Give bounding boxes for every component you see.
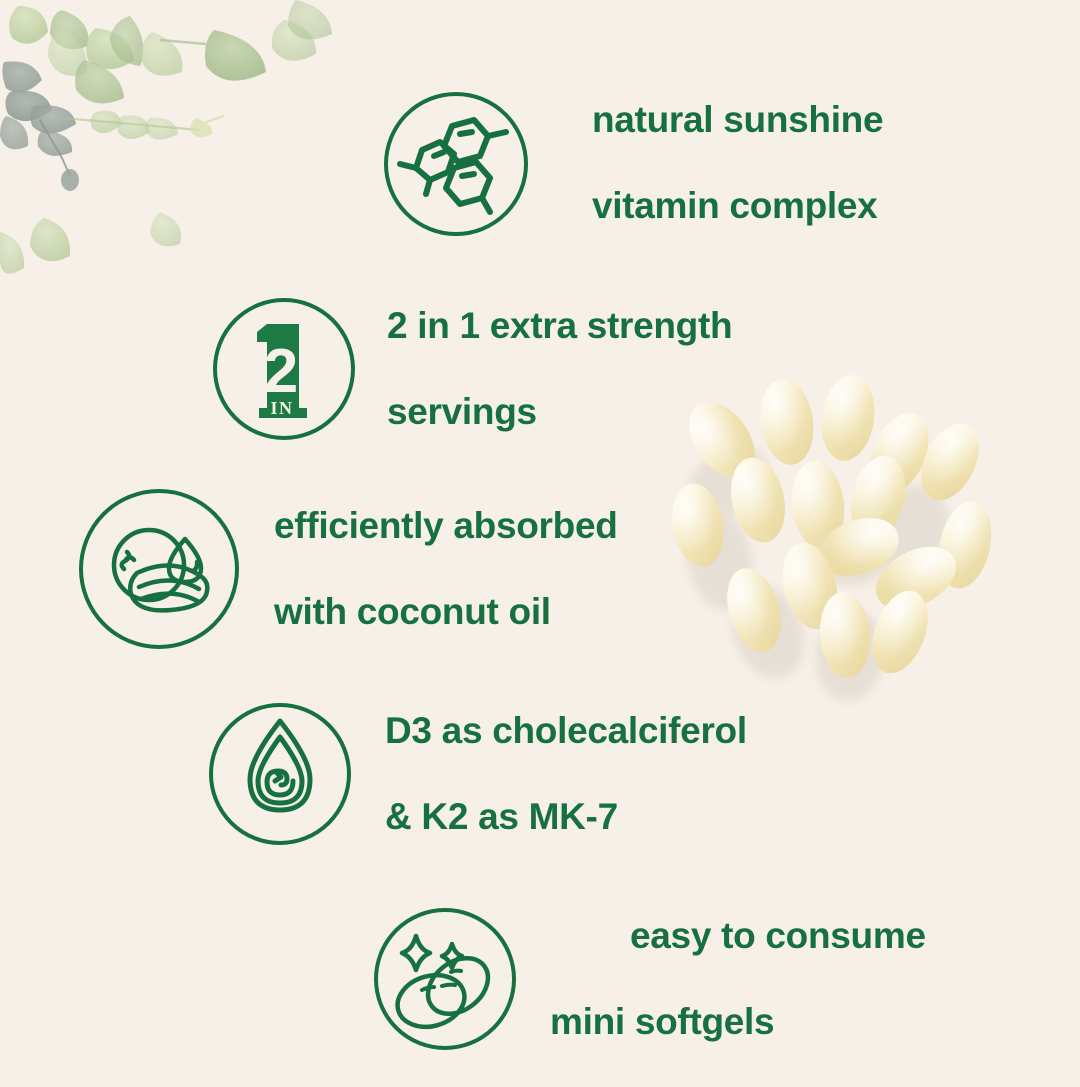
- two-in-one-badge-icon: 2 IN: [211, 296, 357, 442]
- softgel-sparkle-icon: [372, 906, 518, 1052]
- badge-sub-label: IN: [270, 398, 293, 418]
- feature-line: servings: [387, 391, 732, 434]
- feature-line: easy to consume: [630, 915, 926, 958]
- infographic-canvas: natural sunshine vitamin complex 2 IN 2 …: [0, 0, 1080, 1080]
- feature-text-natural-sunshine: natural sunshine vitamin complex: [592, 56, 883, 271]
- feature-row-d3-k2: D3 as cholecalciferol & K2 as MK-7: [207, 667, 747, 882]
- feature-line: mini softgels: [550, 1001, 926, 1044]
- feature-row-natural-sunshine: natural sunshine vitamin complex: [382, 58, 883, 271]
- feature-row-mini-softgels: easy to consume mini softgels: [372, 872, 926, 1087]
- feature-text-d3-k2: D3 as cholecalciferol & K2 as MK-7: [385, 667, 747, 882]
- feature-text-mini-softgels: easy to consume mini softgels: [550, 872, 926, 1087]
- leaf-cluster-top-left: [0, 0, 332, 274]
- feature-line: & K2 as MK-7: [385, 796, 747, 839]
- feature-line: vitamin complex: [592, 185, 883, 228]
- feature-text-coconut-oil: efficiently absorbed with coconut oil: [274, 462, 618, 677]
- feature-line: efficiently absorbed: [274, 505, 618, 548]
- feature-line: with coconut oil: [274, 591, 618, 634]
- feature-line: D3 as cholecalciferol: [385, 710, 747, 753]
- badge-number: 2: [264, 337, 298, 406]
- feature-line: natural sunshine: [592, 99, 883, 142]
- feature-row-two-in-one: 2 IN 2 in 1 extra strength servings: [211, 262, 732, 477]
- feature-text-two-in-one: 2 in 1 extra strength servings: [387, 262, 732, 477]
- molecule-icon: [382, 90, 530, 238]
- feature-line: 2 in 1 extra strength: [387, 305, 732, 348]
- feature-row-coconut-oil: efficiently absorbed with coconut oil: [77, 462, 618, 677]
- coconut-oil-droplet-icon: [77, 487, 242, 652]
- droplet-swirl-icon: [207, 701, 353, 847]
